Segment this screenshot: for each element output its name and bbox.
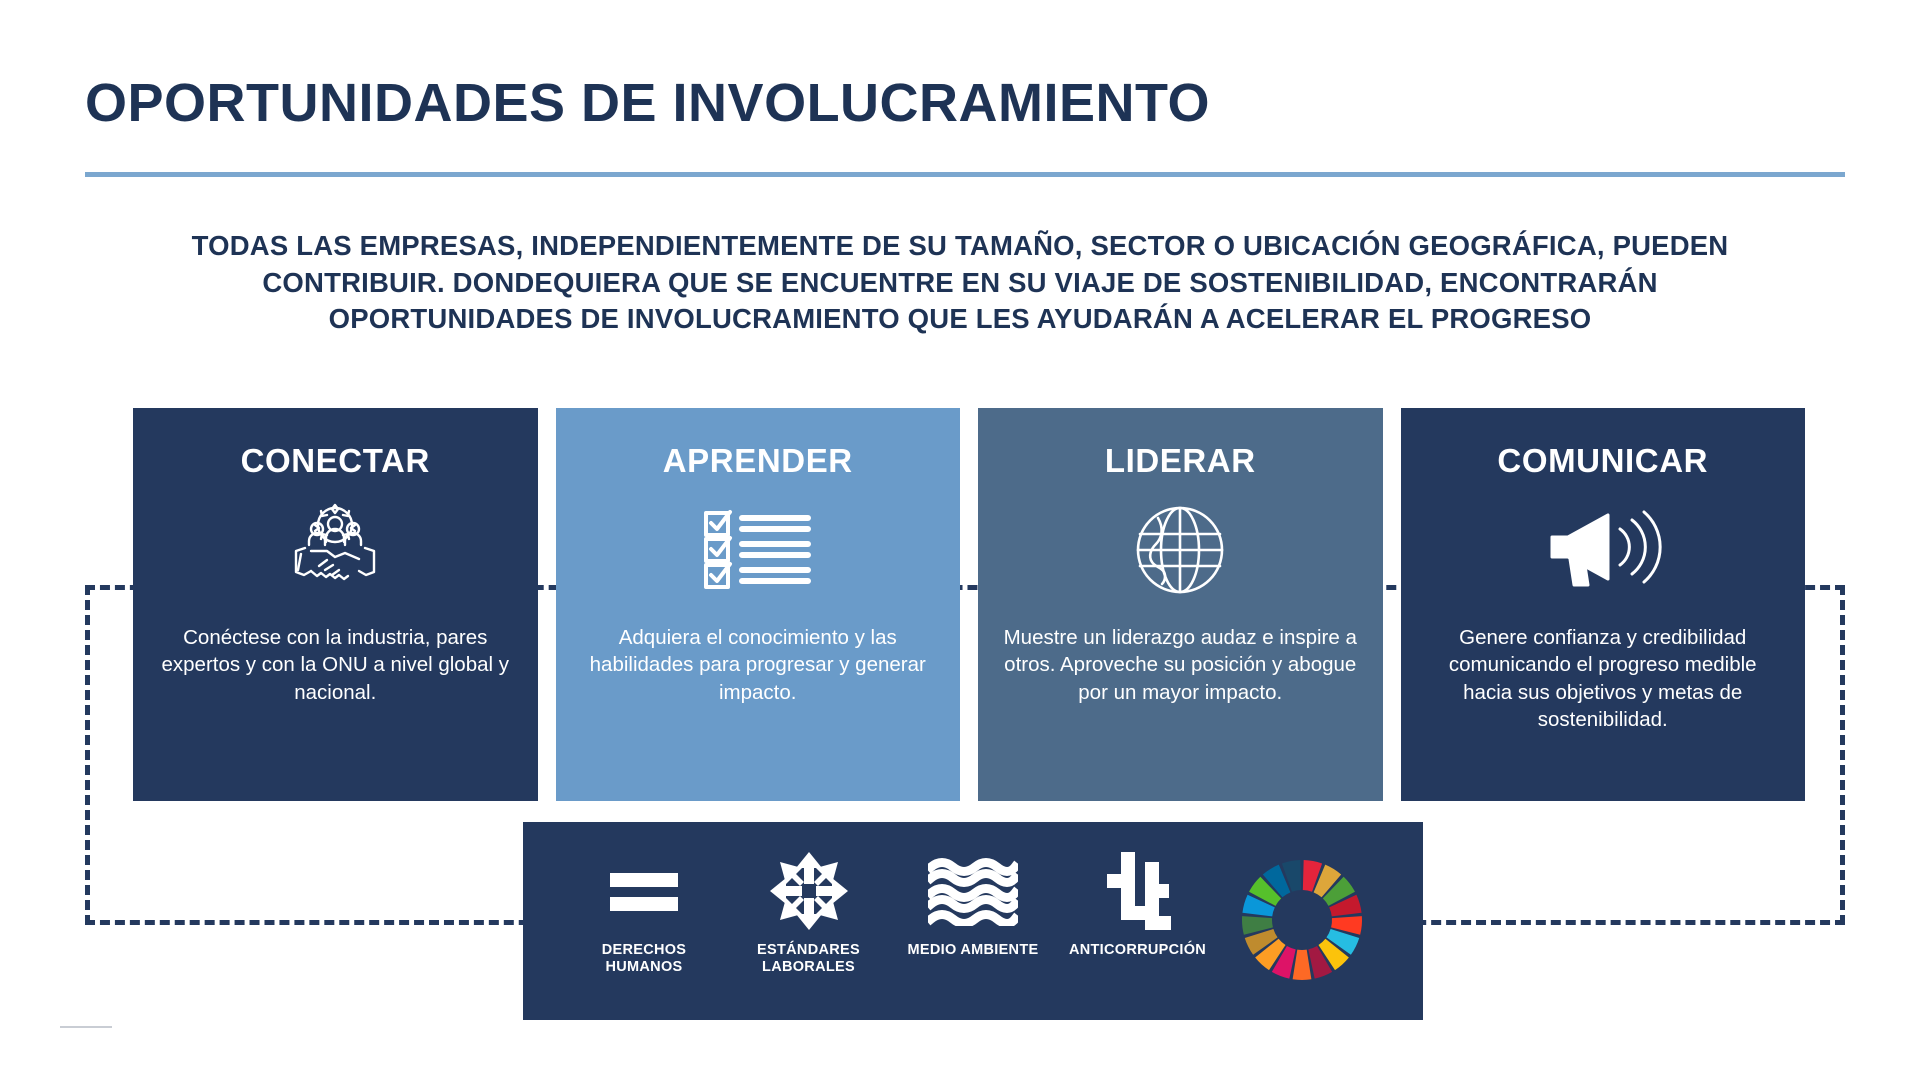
card-body: Genere confianza y credibilidad comunica… xyxy=(1423,624,1783,733)
principle-label: MEDIO AMBIENTE xyxy=(908,942,1039,959)
card-aprender[interactable]: APRENDER Adquiera el conocimiento y las … xyxy=(556,408,961,801)
converging-arrows-icon xyxy=(768,850,850,932)
waves-icon xyxy=(928,850,1018,932)
equals-icon xyxy=(608,850,680,932)
card-body: Conéctese con la industria, pares expert… xyxy=(155,624,515,706)
megaphone-icon xyxy=(1544,502,1662,598)
globe-icon xyxy=(1132,502,1228,598)
principle-label: DERECHOS HUMANOS xyxy=(602,942,687,975)
principle-label: ESTÁNDARES LABORALES xyxy=(757,942,860,975)
card-conectar[interactable]: CONECTAR xyxy=(133,408,538,801)
card-title: COMUNICAR xyxy=(1497,442,1708,480)
card-body: Adquiera el conocimiento y las habilidad… xyxy=(578,624,938,706)
card-title: APRENDER xyxy=(663,442,853,480)
principle-derechos-humanos[interactable]: DERECHOS HUMANOS xyxy=(569,850,719,975)
checklist-icon xyxy=(702,502,814,598)
card-body: Muestre un liderazgo audaz e inspire a o… xyxy=(1000,624,1360,706)
principle-estandares-laborales[interactable]: ESTÁNDARES LABORALES xyxy=(734,850,884,975)
card-title: LIDERAR xyxy=(1105,442,1256,480)
principle-medio-ambiente[interactable]: MEDIO AMBIENTE xyxy=(898,850,1048,959)
card-comunicar[interactable]: COMUNICAR Genere confianza y credibilida… xyxy=(1401,408,1806,801)
card-liderar[interactable]: LIDERAR Muestre un liderazgo audaz e ins… xyxy=(978,408,1383,801)
ungc-principles-bar: DERECHOS HUMANOS ESTÁNDARES LABORALES xyxy=(523,822,1423,1020)
handshake-network-icon xyxy=(281,502,389,598)
principle-label: ANTICORRUPCIÓN xyxy=(1069,942,1206,959)
footer-tick xyxy=(60,1026,112,1028)
sdg-color-wheel-icon[interactable] xyxy=(1227,850,1377,990)
title-divider xyxy=(85,172,1845,177)
principle-anticorrupcion[interactable]: ANTICORRUPCIÓN xyxy=(1063,850,1213,959)
slide-subtitle: TODAS LAS EMPRESAS, INDEPENDIENTEMENTE D… xyxy=(140,228,1780,338)
blocks-icon xyxy=(1099,850,1177,932)
opportunity-cards: CONECTAR xyxy=(133,408,1805,801)
card-title: CONECTAR xyxy=(241,442,430,480)
slide-root: OPORTUNIDADES DE INVOLUCRAMIENTO TODAS L… xyxy=(0,0,1920,1080)
page-title: OPORTUNIDADES DE INVOLUCRAMIENTO xyxy=(85,72,1210,134)
